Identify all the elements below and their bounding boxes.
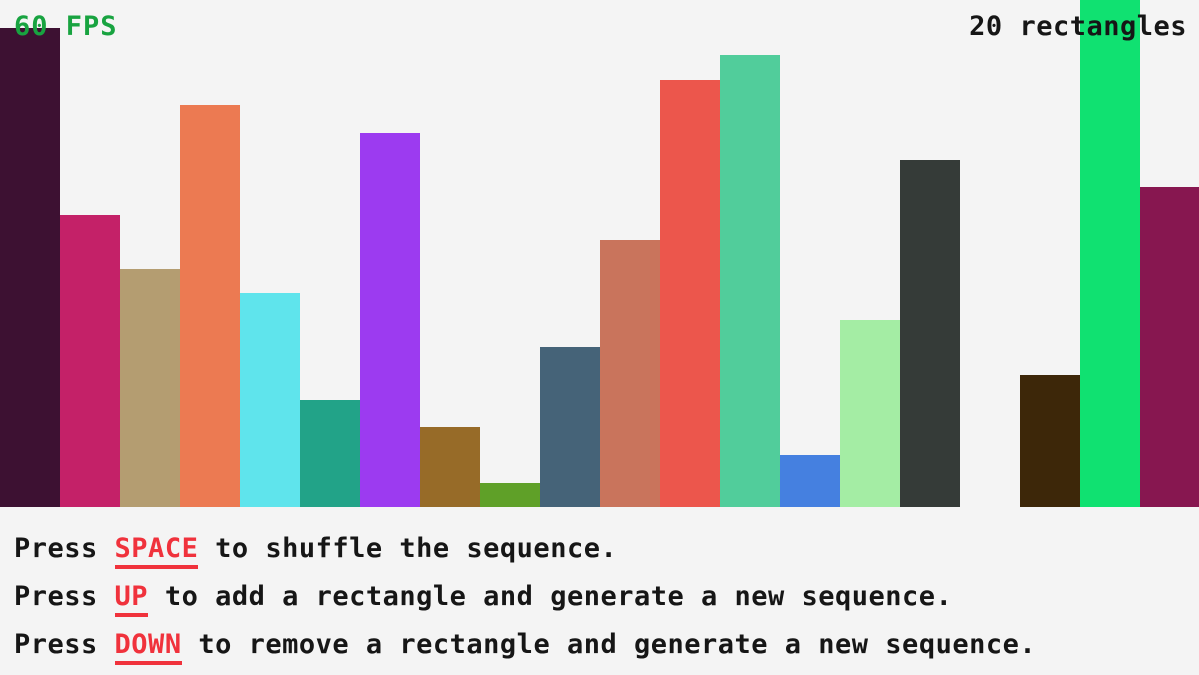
fps-counter: 60 FPS: [14, 13, 118, 40]
key-hint-space[interactable]: SPACE: [115, 533, 199, 569]
bar-rectangle: [1020, 375, 1080, 507]
bar-rectangle: [420, 427, 480, 507]
bar-rectangle: [480, 483, 540, 507]
rectangle-count-label: 20 rectangles: [969, 13, 1187, 40]
bar-rectangle: [540, 347, 600, 507]
instructions-panel: Press SPACE to shuffle the sequence. Pre…: [0, 507, 1199, 675]
key-hint-up[interactable]: UP: [115, 581, 149, 617]
instruction-add-suffix: to add a rectangle and generate a new se…: [148, 581, 952, 612]
bar-rectangle: [240, 293, 300, 507]
bar-rectangle: [1140, 187, 1199, 507]
bar-chart-canvas[interactable]: [0, 0, 1199, 507]
bar-rectangle: [60, 215, 120, 507]
bar-rectangle: [780, 455, 840, 507]
instruction-shuffle-prefix: Press: [14, 533, 115, 564]
instruction-line-remove: Press DOWN to remove a rectangle and gen…: [14, 621, 1199, 669]
instruction-remove-suffix: to remove a rectangle and generate a new…: [182, 629, 1037, 660]
bar-rectangle: [180, 105, 240, 507]
bar-rectangle: [900, 160, 960, 507]
bar-rectangle: [600, 240, 660, 507]
bar-rectangle: [0, 28, 60, 507]
bar-rectangle: [660, 80, 720, 507]
instruction-remove-prefix: Press: [14, 629, 115, 660]
bar-rectangle: [360, 133, 420, 507]
instruction-line-add: Press UP to add a rectangle and generate…: [14, 573, 1199, 621]
instruction-line-shuffle: Press SPACE to shuffle the sequence.: [14, 525, 1199, 573]
rectangle-visualizer-app: 60 FPS 20 rectangles Press SPACE to shuf…: [0, 0, 1199, 675]
instruction-add-prefix: Press: [14, 581, 115, 612]
bar-rectangle: [300, 400, 360, 507]
bar-rectangle: [840, 320, 900, 507]
bar-rectangle: [1080, 0, 1140, 507]
key-hint-down[interactable]: DOWN: [115, 629, 182, 665]
bar-rectangle: [120, 269, 180, 507]
instruction-shuffle-suffix: to shuffle the sequence.: [198, 533, 617, 564]
bar-rectangle: [720, 55, 780, 507]
